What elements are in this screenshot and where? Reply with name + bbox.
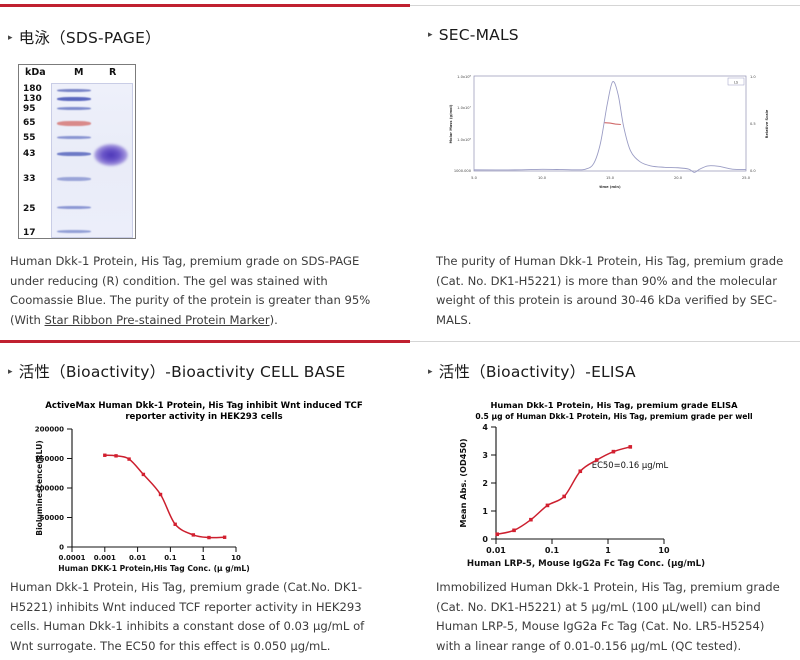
cell-base-chart-title-line1: ActiveMax Human Dkk-1 Protein, His Tag i… bbox=[45, 401, 363, 411]
cell-base-dose-response-curve bbox=[105, 455, 225, 537]
ladder-label-65: 65 bbox=[23, 119, 36, 128]
sec-x-tick-3: 20.0 bbox=[674, 176, 683, 180]
sec-x-tick-0: 5.0 bbox=[471, 176, 477, 180]
sec-y2-tick-1: 0.5 bbox=[750, 122, 756, 126]
gel-header-lane-m: M bbox=[74, 67, 83, 78]
elisa-x-tick-01: 0.1 bbox=[545, 546, 560, 555]
cell-base-x-axis-label: Human DKK-1 Protein,His Tag Conc. (μ g/m… bbox=[58, 564, 249, 573]
sample-band-lane-r bbox=[94, 144, 128, 166]
sec-y2-tick-0: 0.0 bbox=[750, 169, 756, 173]
sec-mals-plot-svg: 1.0x10⁸ 1.0x10⁷ 1.0x10⁶ 1000.000 Molar M… bbox=[438, 62, 786, 202]
ladder-label-33: 33 bbox=[23, 175, 36, 184]
cell-base-point-1 bbox=[114, 454, 117, 457]
sec-mals-title: SEC-MALS bbox=[439, 26, 519, 44]
ladder-label-43: 43 bbox=[23, 150, 36, 159]
marker-band-130 bbox=[57, 97, 91, 101]
sds-caption-part-b: ). bbox=[270, 313, 278, 327]
cell-base-y-axis-label: Bioluminescence(RLU) bbox=[35, 440, 44, 535]
ladder-label-25: 25 bbox=[23, 205, 36, 214]
section-sds-page: ▸ 电泳（SDS-PAGE） kDa M R 180 130 95 65 55 … bbox=[8, 26, 408, 336]
gel-column-headers: kDa M R bbox=[19, 67, 135, 82]
sds-page-caption: Human Dkk-1 Protein, His Tag, premium gr… bbox=[10, 252, 378, 330]
section-bioactivity-cell-base: ▸ 活性（Bioactivity）-Bioactivity CELL BASE … bbox=[8, 360, 408, 656]
cell-y-tick-0: 0 bbox=[59, 544, 64, 552]
cell-base-data-points bbox=[103, 454, 226, 540]
elisa-point-4 bbox=[562, 495, 566, 499]
elisa-point-1 bbox=[512, 529, 516, 533]
elisa-ec50-annotation: EC50=0.16 μg/mL bbox=[592, 460, 669, 470]
cell-base-point-3 bbox=[142, 473, 145, 476]
sds-page-gel-image: kDa M R 180 130 95 65 55 43 33 25 17 bbox=[18, 64, 136, 239]
cell-base-point-4 bbox=[159, 493, 162, 496]
sec-y2-axis-label: Relative Scale bbox=[765, 109, 769, 138]
marker-band-95 bbox=[57, 107, 91, 110]
elisa-data-points bbox=[495, 445, 632, 536]
elisa-x-tick-1: 1 bbox=[605, 546, 611, 555]
elisa-x-tick-10: 10 bbox=[658, 546, 670, 555]
elisa-axes bbox=[496, 427, 664, 539]
elisa-caption: Immobilized Human Dkk-1 Protein, His Tag… bbox=[436, 578, 792, 656]
sec-x-axis-label: time (min) bbox=[599, 185, 621, 189]
cell-base-point-2 bbox=[127, 457, 130, 460]
elisa-chart-title: Human Dkk-1 Protein, His Tag, premium gr… bbox=[490, 400, 738, 410]
sec-x-tick-1: 10.0 bbox=[538, 176, 547, 180]
elisa-point-6 bbox=[595, 458, 599, 462]
sec-legend-label: LS bbox=[734, 81, 739, 85]
ladder-label-55: 55 bbox=[23, 134, 36, 143]
sec-mals-x-axis: 5.0 10.0 15.0 20.0 25.0 time (min) bbox=[471, 176, 751, 189]
cell-x-tick-01: 0.1 bbox=[164, 554, 177, 562]
protein-marker-link[interactable]: Star Ribbon Pre-stained Protein Marker bbox=[45, 313, 270, 327]
gel-header-kda: kDa bbox=[25, 67, 46, 78]
marker-band-43 bbox=[57, 152, 91, 156]
sec-mals-ls-trace bbox=[474, 82, 746, 173]
cell-base-chart-title-line2: reporter activity in HEK293 cells bbox=[125, 412, 282, 422]
elisa-point-7 bbox=[612, 450, 616, 454]
section-bioactivity-elisa: ▸ 活性（Bioactivity）-ELISA Human Dkk-1 Prot… bbox=[428, 360, 794, 656]
elisa-point-0 bbox=[495, 532, 499, 536]
elisa-heading: ▸ 活性（Bioactivity）-ELISA bbox=[428, 360, 794, 382]
cell-base-point-6 bbox=[192, 533, 195, 536]
elisa-x-axis-label: Human LRP-5, Mouse IgG2a Fc Tag Conc. (μ… bbox=[467, 559, 705, 569]
sec-x-tick-4: 25.0 bbox=[742, 176, 751, 180]
cell-base-point-5 bbox=[173, 523, 176, 526]
section-sec-mals: ▸ SEC-MALS 1.0x10⁸ 1.0x10⁷ 1.0x10⁶ 1000.… bbox=[428, 26, 794, 336]
sec-mals-caption: The purity of Human Dkk-1 Protein, His T… bbox=[436, 252, 792, 330]
elisa-x-tick-001: 0.01 bbox=[486, 546, 506, 555]
cell-x-tick-0001: 0.001 bbox=[94, 554, 116, 562]
cell-x-tick-1: 1 bbox=[201, 554, 206, 562]
elisa-y-tick-3: 3 bbox=[482, 451, 488, 460]
marker-band-25 bbox=[57, 206, 91, 209]
ladder-label-130: 130 bbox=[23, 95, 42, 104]
sec-mals-y2-axis: 1.0 0.5 0.0 Relative Scale bbox=[750, 75, 769, 173]
ladder-label-95: 95 bbox=[23, 105, 36, 114]
cell-base-y-ticks: 200000 150000 100000 50000 0 Bioluminesc… bbox=[35, 426, 72, 552]
ladder-label-180: 180 bbox=[23, 85, 42, 94]
elisa-chart: Human Dkk-1 Protein, His Tag, premium gr… bbox=[434, 394, 784, 574]
elisa-y-axis-label: Mean Abs. (OD450) bbox=[458, 438, 468, 528]
elisa-point-5 bbox=[578, 469, 582, 473]
sec-mals-y-axis: 1.0x10⁸ 1.0x10⁷ 1.0x10⁶ 1000.000 Molar M… bbox=[449, 75, 472, 173]
top-rule-red-segment bbox=[0, 4, 410, 7]
caret-right-icon: ▸ bbox=[8, 368, 13, 377]
cell-x-tick-10: 10 bbox=[231, 554, 241, 562]
caret-right-icon: ▸ bbox=[428, 368, 433, 377]
mid-rule-gray-segment bbox=[410, 341, 800, 342]
gel-frame: kDa M R 180 130 95 65 55 43 33 25 17 bbox=[18, 64, 136, 239]
sec-y-tick-2: 1.0x10⁷ bbox=[457, 106, 471, 110]
marker-band-180 bbox=[57, 89, 91, 92]
elisa-point-8 bbox=[628, 445, 632, 449]
top-rule-gray-segment bbox=[410, 5, 800, 6]
cell-x-tick-001: 0.01 bbox=[129, 554, 146, 562]
sec-mals-molar-mass-trace bbox=[605, 123, 621, 125]
marker-band-65 bbox=[57, 121, 91, 126]
elisa-y-tick-0: 0 bbox=[482, 535, 488, 544]
cell-base-point-0 bbox=[103, 454, 106, 457]
sec-mals-chart: 1.0x10⁸ 1.0x10⁷ 1.0x10⁶ 1000.000 Molar M… bbox=[438, 62, 786, 202]
ladder-label-17: 17 bbox=[23, 229, 36, 238]
elisa-point-2 bbox=[529, 518, 533, 522]
elisa-y-tick-2: 2 bbox=[482, 479, 488, 488]
cell-base-point-8 bbox=[223, 536, 226, 539]
marker-band-17 bbox=[57, 230, 91, 233]
middle-divider-rule bbox=[0, 340, 800, 344]
cell-base-heading: ▸ 活性（Bioactivity）-Bioactivity CELL BASE bbox=[8, 360, 408, 382]
elisa-title: 活性（Bioactivity）-ELISA bbox=[439, 360, 636, 382]
marker-band-55 bbox=[57, 136, 91, 139]
sec-y2-tick-2: 1.0 bbox=[750, 75, 756, 79]
elisa-point-3 bbox=[546, 504, 550, 508]
cell-base-caption: Human Dkk-1 Protein, His Tag, premium gr… bbox=[10, 578, 390, 656]
elisa-y-tick-4: 4 bbox=[482, 423, 488, 432]
gel-header-lane-r: R bbox=[109, 67, 116, 78]
caret-right-icon: ▸ bbox=[428, 31, 433, 40]
sds-page-title: 电泳（SDS-PAGE） bbox=[19, 26, 161, 48]
cell-base-plot-svg: ActiveMax Human Dkk-1 Protein, His Tag i… bbox=[14, 394, 394, 574]
elisa-x-ticks: 0.01 0.1 1 10 Human LRP-5, Mouse IgG2a F… bbox=[467, 539, 705, 569]
cell-x-tick-00001: 0.0001 bbox=[58, 554, 85, 562]
cell-base-title: 活性（Bioactivity）-Bioactivity CELL BASE bbox=[19, 360, 346, 382]
cell-base-chart: ActiveMax Human Dkk-1 Protein, His Tag i… bbox=[14, 394, 394, 574]
sec-y-tick-3: 1.0x10⁸ bbox=[457, 75, 471, 79]
elisa-y-ticks: 4 3 2 1 0 Mean Abs. (OD450) bbox=[458, 423, 496, 544]
elisa-y-tick-1: 1 bbox=[482, 507, 488, 516]
gel-lanes bbox=[51, 83, 133, 238]
sec-x-tick-2: 15.0 bbox=[606, 176, 615, 180]
product-validation-page: ▸ 电泳（SDS-PAGE） kDa M R 180 130 95 65 55 … bbox=[0, 0, 800, 660]
sec-y-axis-label: Molar Mass (g/mol) bbox=[449, 104, 453, 143]
elisa-chart-subtitle: 0.5 μg of Human Dkk-1 Protein, His Tag, … bbox=[475, 412, 752, 421]
cell-base-axes bbox=[72, 429, 236, 547]
sds-page-heading: ▸ 电泳（SDS-PAGE） bbox=[8, 26, 408, 48]
top-divider-rule bbox=[0, 4, 800, 8]
sec-mals-heading: ▸ SEC-MALS bbox=[428, 26, 794, 44]
mid-rule-red-segment bbox=[0, 340, 410, 343]
cell-base-x-ticks: 0.0001 0.001 0.01 0.1 1 10 Human DKK-1 P… bbox=[58, 547, 249, 573]
sec-y-tick-1: 1.0x10⁶ bbox=[457, 138, 471, 142]
elisa-plot-svg: Human Dkk-1 Protein, His Tag, premium gr… bbox=[434, 394, 784, 574]
cell-y-tick-200000: 200000 bbox=[35, 426, 64, 434]
gel-ladder-labels: 180 130 95 65 55 43 33 25 17 bbox=[23, 82, 49, 238]
marker-band-33 bbox=[57, 177, 91, 181]
sec-y-tick-0: 1000.000 bbox=[454, 169, 472, 173]
caret-right-icon: ▸ bbox=[8, 34, 13, 43]
cell-base-point-7 bbox=[207, 536, 210, 539]
